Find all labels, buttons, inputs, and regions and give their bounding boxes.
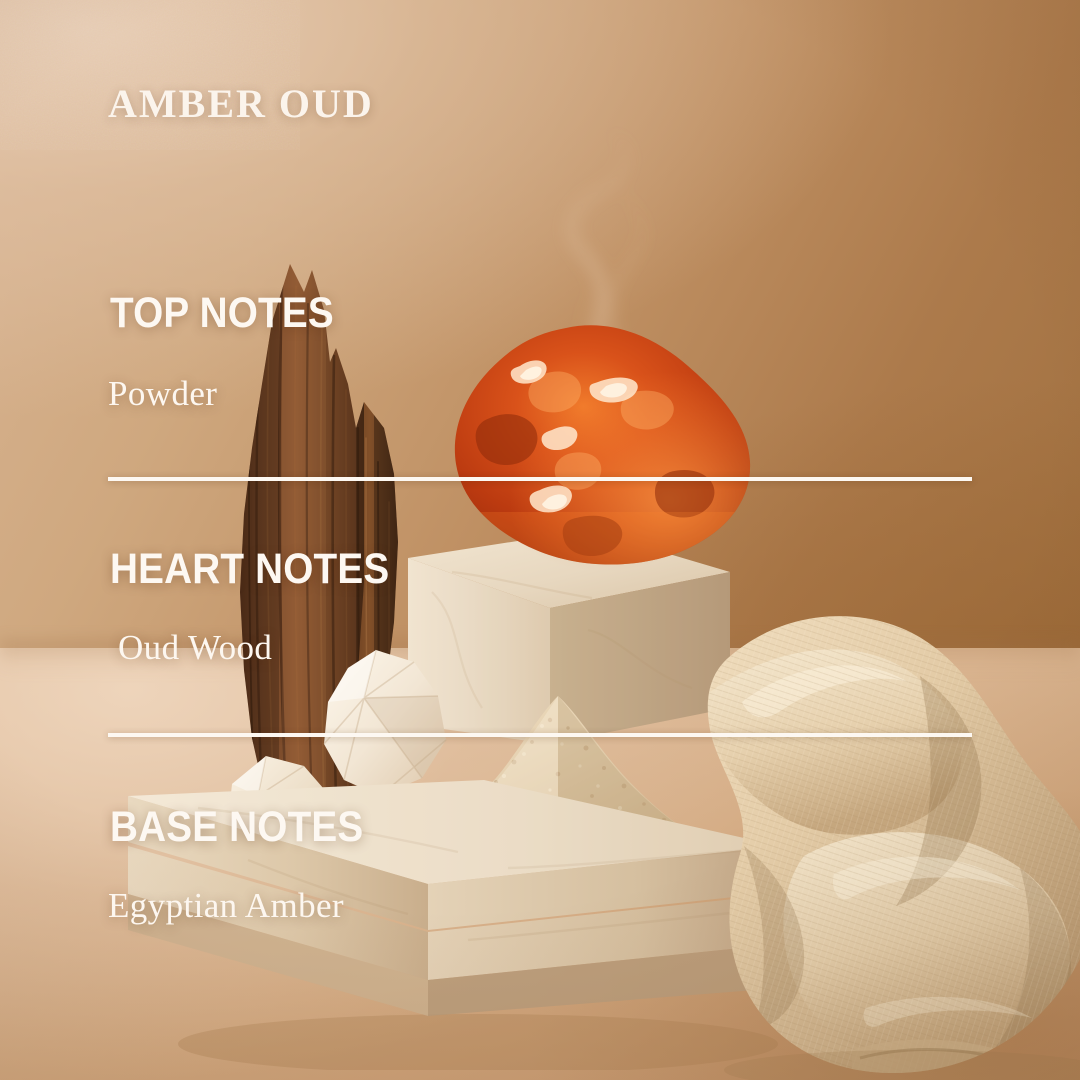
section-divider-heart <box>108 733 972 737</box>
heart-notes-value: Oud Wood <box>118 628 272 668</box>
fragrance-product-card: AMBER OUD TOP NOTES Powder HEART NOTES O… <box>0 0 1080 1080</box>
knit-fabric-drape <box>684 606 1080 1080</box>
page-title: AMBER OUD <box>108 80 374 127</box>
top-notes-heading: TOP NOTES <box>110 289 334 338</box>
section-divider-top <box>108 477 972 481</box>
base-notes-heading: BASE NOTES <box>110 803 363 852</box>
heart-notes-heading: HEART NOTES <box>110 545 389 594</box>
amber-resin-stone <box>448 322 756 570</box>
top-notes-value: Powder <box>108 374 217 414</box>
base-notes-value: Egyptian Amber <box>108 886 344 926</box>
